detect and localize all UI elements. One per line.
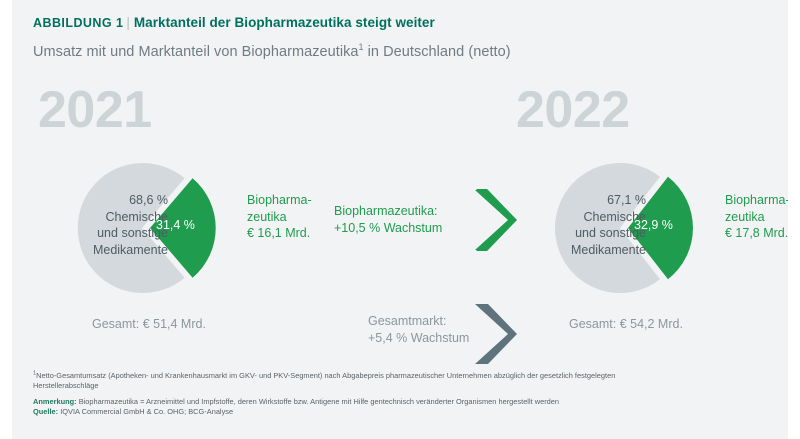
growth-market-line1: Gesamtmarkt: [368,313,469,330]
pie-label-chemische-2021: 68,6 % Chemische und sonstige Medikament… [56,192,168,258]
footnote-note: Anmerkung: Biopharmazeutika = Arzneimitt… [33,397,771,407]
figure-subtitle: Umsatz mit und Marktanteil von Biopharma… [33,44,511,60]
footnote-1-text: Netto-Gesamtumsatz (Apotheken- und Krank… [36,371,615,380]
year-label-2021: 2021 [38,84,152,136]
footnote-source-key: Quelle: [33,407,58,416]
year-label-2022: 2022 [516,84,630,136]
footnote-source: Quelle: IQVIA Commercial GmbH & Co. OHG;… [33,407,771,417]
pie-label-biopharma-2021: Biopharma- zeutika € 16,1 Mrd. [247,192,312,242]
footnote-1-line2: Herstellerabschläge [33,381,771,391]
footnote-note-text: Biopharmazeutika = Arzneimittel und Impf… [77,397,559,406]
pie-chart-2021: 68,6 % Chemische und sonstige Medikament… [62,148,222,308]
pie-label-biopharma-2022: Biopharma- zeutika € 17,8 Mrd. [725,192,788,242]
growth-market-line2: +5,4 % Wachstum [368,330,469,347]
chemische-name-l3-2022: Medikamente [534,242,646,259]
growth-callout-biopharma: Biopharmazeutika: +10,5 % Wachstum [334,203,442,236]
chevron-grey-svg [474,303,518,365]
growth-callout-gesamtmarkt: Gesamtmarkt: +5,4 % Wachstum [368,313,469,346]
biopharma-name-l2-2021: zeutika [247,209,312,226]
chevron-green-shape-body [475,190,517,250]
growth-biopharma-line1: Biopharmazeutika: [334,203,442,220]
pie-slice-pct-biopharma-2021: 31,4 % [156,218,195,232]
chevron-right-grey-icon [474,303,518,370]
chemische-name-l2-2022: und sonstige [534,225,646,242]
footnotes: 1Netto-Gesamtumsatz (Apotheken- und Kran… [33,371,771,418]
total-label-2022: Gesamt: € 54,2 Mrd. [569,317,683,331]
chevron-right-green-icon [474,189,518,256]
chemische-pct-2021: 68,6 % [56,192,168,209]
biopharma-name-l1-2022: Biopharma- [725,192,788,209]
biopharma-name-l1-2021: Biopharma- [247,192,312,209]
page-title: Marktanteil der Biopharmazeutika steigt … [134,15,435,30]
biopharma-value-2021: € 16,1 Mrd. [247,225,312,242]
header-separator: | [123,15,134,30]
footnote-source-text: IQVIA Commercial GmbH & Co. OHG; BCG-Ana… [58,407,233,416]
growth-biopharma-line2: +10,5 % Wachstum [334,220,442,237]
pie-chart-2022: 67,1 % Chemische und sonstige Medikament… [540,148,700,308]
chevron-green-svg [474,189,518,251]
chemische-name-l1-2021: Chemische [56,209,168,226]
pie-slice-pct-biopharma-2022: 32,9 % [634,218,673,232]
figure-header: ABBILDUNG 1|Marktanteil der Biopharmazeu… [33,14,763,32]
chevron-grey-shape [475,304,517,364]
pie-label-chemische-2022: 67,1 % Chemische und sonstige Medikament… [534,192,646,258]
footnote-1-line1: 1Netto-Gesamtumsatz (Apotheken- und Kran… [33,371,771,381]
footnote-note-key: Anmerkung: [33,397,77,406]
chemische-name-l2-2021: und sonstige [56,225,168,242]
chemische-pct-2022: 67,1 % [534,192,646,209]
biopharma-value-2022: € 17,8 Mrd. [725,225,788,242]
subtitle-text-after: in Deutschland (netto) [364,44,511,60]
biopharma-name-l2-2022: zeutika [725,209,788,226]
figure-container: ABBILDUNG 1|Marktanteil der Biopharmazeu… [12,0,788,439]
total-label-2021: Gesamt: € 51,4 Mrd. [92,317,206,331]
chemische-name-l3-2021: Medikamente [56,242,168,259]
chemische-name-l1-2022: Chemische [534,209,646,226]
subtitle-text-before: Umsatz mit und Marktanteil von Biopharma… [33,44,359,60]
figure-number: ABBILDUNG 1 [33,16,123,30]
